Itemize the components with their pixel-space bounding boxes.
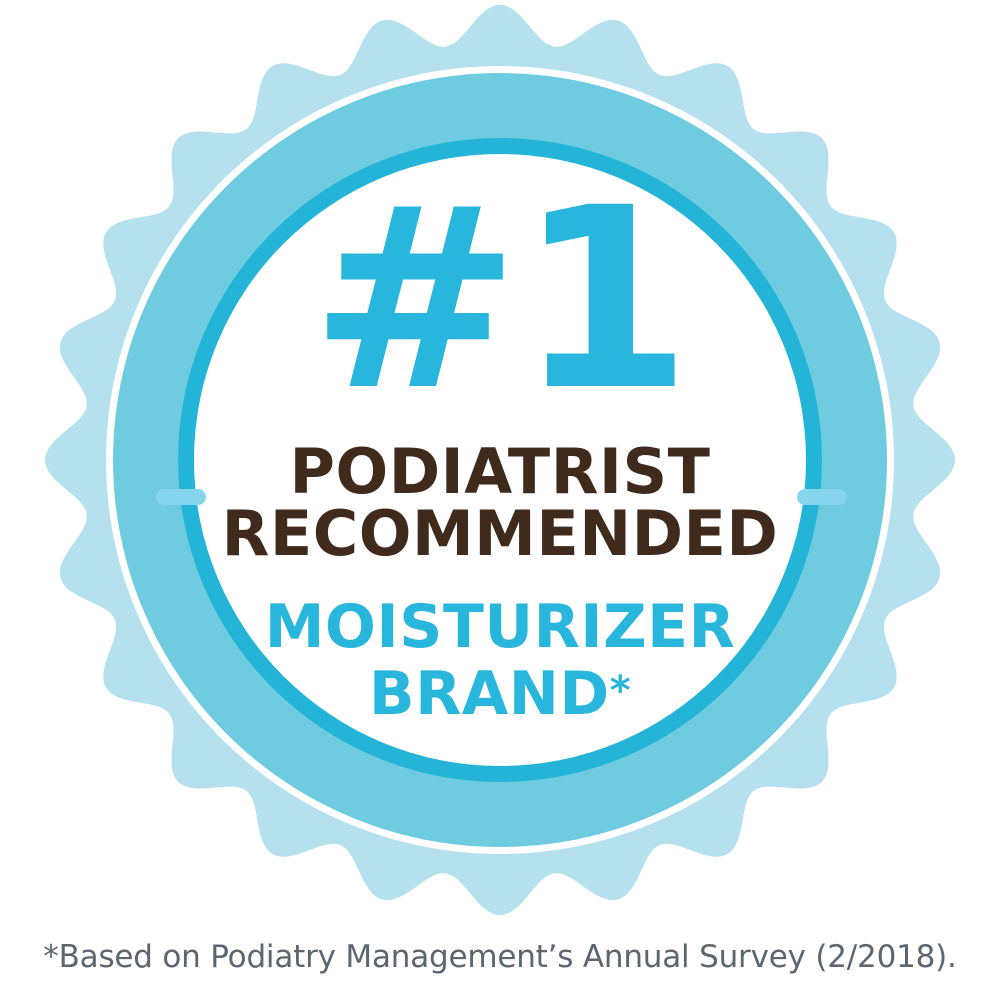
badge-canvas: #1 PODIATRIST RECOMMENDED MOISTURIZER BR… [0,0,1000,1000]
seal-inner-face [194,154,806,766]
badge-seal [0,0,1000,930]
footnote-disclaimer: *Based on Podiatry Management’s Annual S… [0,939,1000,975]
badge-seal-svg [0,0,1000,930]
